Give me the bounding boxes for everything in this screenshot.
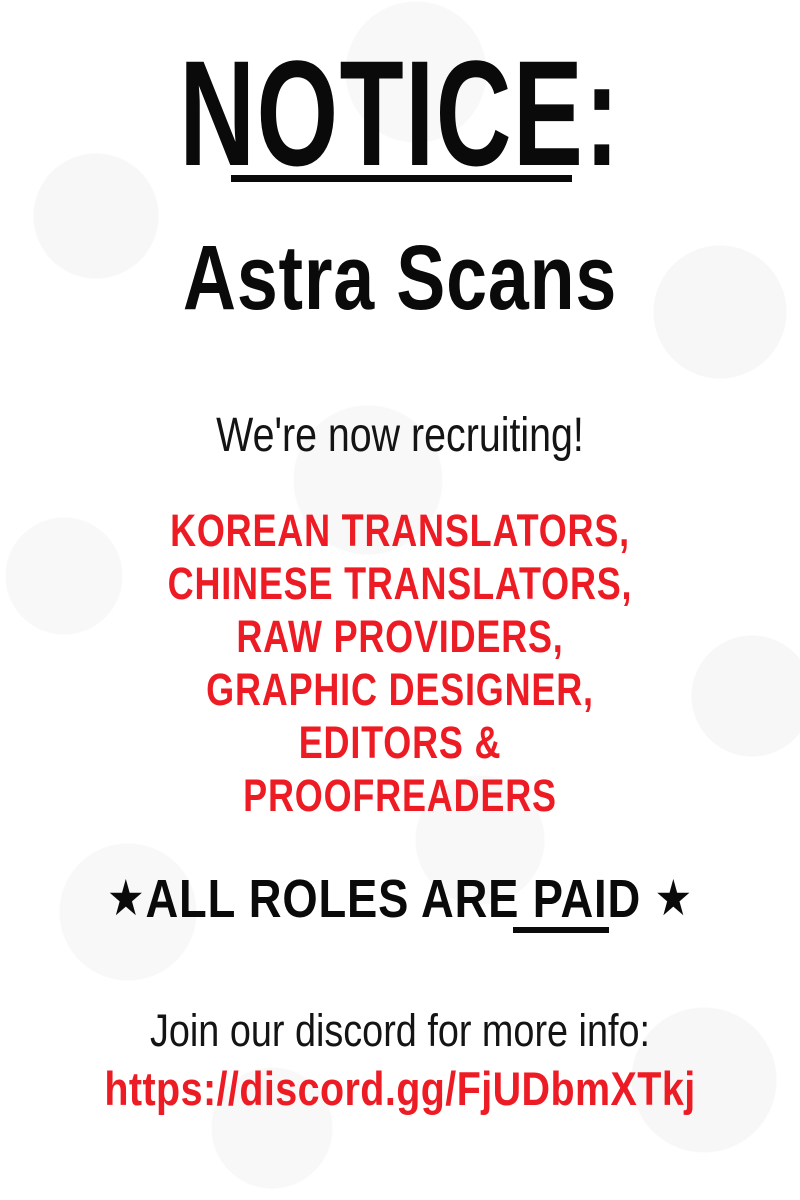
paid-banner-text: ★ALL ROLES ARE PAID ★ (64, 872, 736, 926)
star-icon: ★ (655, 870, 693, 926)
group-name: Astra Scans (80, 232, 720, 324)
paid-banner-suffix (641, 869, 654, 929)
title-underline-rule (231, 175, 572, 182)
recruiting-tagline: We're now recruiting! (72, 412, 728, 460)
group-name-block: Astra Scans (0, 232, 800, 324)
discord-label: Join our discord for more info: (64, 1008, 736, 1053)
notice-page: NOTICE: Astra Scans We're now recruiting… (0, 0, 800, 1200)
role-item: CHINESE TRANSLATORS, (80, 561, 720, 606)
paid-underline-rule (513, 927, 609, 933)
role-item: PROOFREADERS (80, 773, 720, 818)
notice-content: NOTICE: Astra Scans We're now recruiting… (0, 0, 800, 1200)
paid-banner-prefix: ALL ROLES ARE (145, 869, 532, 929)
discord-invite-link[interactable]: https://discord.gg/FjUDbmXTkj (64, 1065, 736, 1112)
paid-banner: ★ALL ROLES ARE PAID ★ (0, 872, 800, 942)
star-icon: ★ (107, 870, 145, 926)
role-item: KOREAN TRANSLATORS, (80, 508, 720, 553)
discord-block: Join our discord for more info: https://… (0, 1008, 800, 1112)
role-item: RAW PROVIDERS, (80, 614, 720, 659)
tagline-block: We're now recruiting! (0, 412, 800, 460)
role-item: GRAPHIC DESIGNER, (80, 667, 720, 712)
paid-emphasis: PAID (533, 869, 641, 929)
roles-list: KOREAN TRANSLATORS, CHINESE TRANSLATORS,… (0, 508, 800, 826)
notice-heading-block: NOTICE: (0, 38, 800, 188)
page-title: NOTICE: (120, 38, 680, 188)
role-item: EDITORS & (80, 720, 720, 765)
